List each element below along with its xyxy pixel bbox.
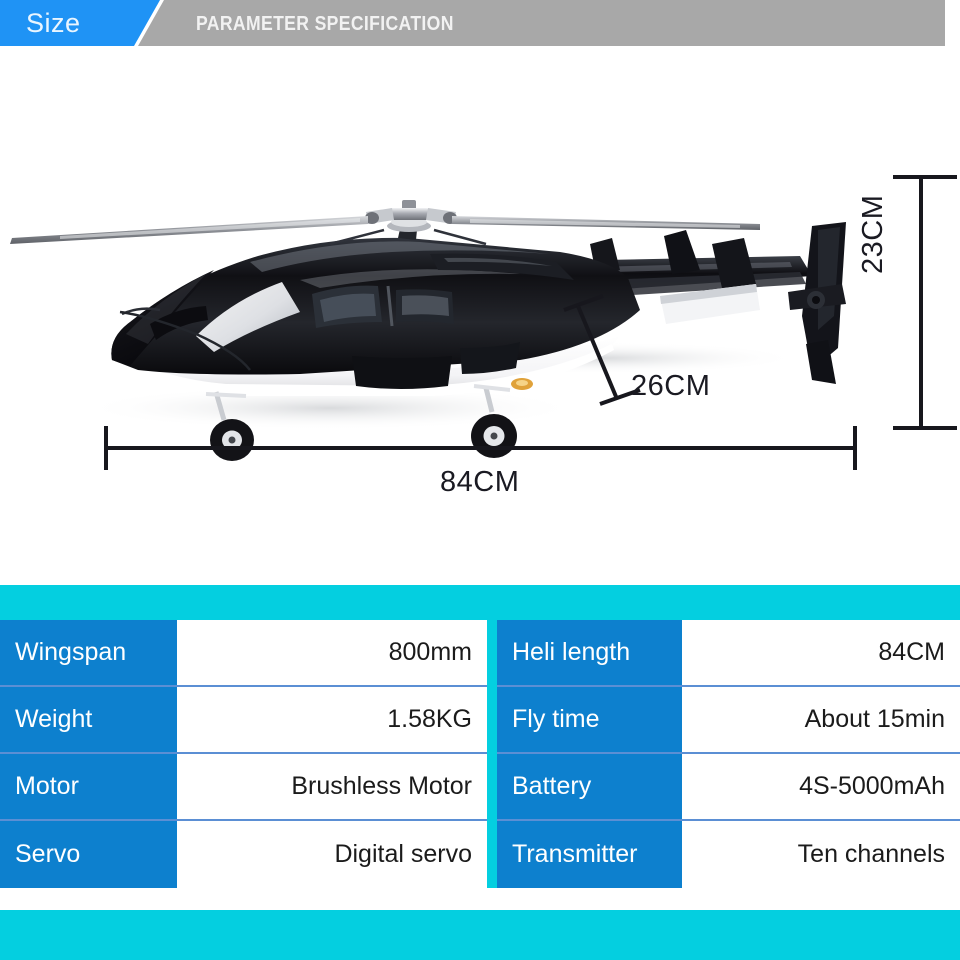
spec-key-servo: Servo — [0, 821, 177, 888]
specification-table: Wingspan 800mm Weight 1.58KG Motor Brush… — [0, 585, 960, 888]
table-row: Heli length 84CM — [497, 620, 960, 687]
spec-column-right: Heli length 84CM Fly time About 15min Ba… — [497, 620, 960, 888]
dimension-annotations — [0, 48, 960, 585]
bottom-accent-bar — [0, 910, 960, 960]
table-row: Weight 1.58KG — [0, 687, 487, 754]
banner-specification-title: PARAMETER SPECIFICATION — [196, 11, 454, 37]
spec-value-battery: 4S-5000mAh — [682, 754, 960, 819]
table-row: Battery 4S-5000mAh — [497, 754, 960, 821]
spec-value-transmitter: Ten channels — [682, 821, 960, 888]
spec-key-transmitter: Transmitter — [497, 821, 682, 888]
dimension-label-length: 84CM — [440, 466, 519, 498]
spec-key-fly-time: Fly time — [497, 687, 682, 752]
banner-size-label: Size — [26, 8, 81, 38]
spec-key-motor: Motor — [0, 754, 177, 819]
spec-value-weight: 1.58KG — [177, 687, 487, 752]
spec-key-battery: Battery — [497, 754, 682, 819]
table-row: Transmitter Ten channels — [497, 821, 960, 888]
spec-value-fly-time: About 15min — [682, 687, 960, 752]
specification-grid: Wingspan 800mm Weight 1.58KG Motor Brush… — [0, 620, 960, 888]
spec-value-motor: Brushless Motor — [177, 754, 487, 819]
table-row: Motor Brushless Motor — [0, 754, 487, 821]
product-photo-stage: 84CM 26CM 23CM — [0, 48, 960, 585]
page-header-banner: Size PARAMETER SPECIFICATION — [0, 0, 960, 48]
spec-key-weight: Weight — [0, 687, 177, 752]
spec-value-wingspan: 800mm — [177, 620, 487, 685]
spec-value-servo: Digital servo — [177, 821, 487, 888]
dimension-label-height: 23CM — [857, 195, 889, 274]
table-row: Servo Digital servo — [0, 821, 487, 888]
spec-column-left: Wingspan 800mm Weight 1.58KG Motor Brush… — [0, 620, 487, 888]
table-row: Fly time About 15min — [497, 687, 960, 754]
spec-value-heli-length: 84CM — [682, 620, 960, 685]
spec-key-heli-length: Heli length — [497, 620, 682, 685]
table-row: Wingspan 800mm — [0, 620, 487, 687]
dimension-label-depth: 26CM — [631, 370, 710, 402]
spec-key-wingspan: Wingspan — [0, 620, 177, 685]
